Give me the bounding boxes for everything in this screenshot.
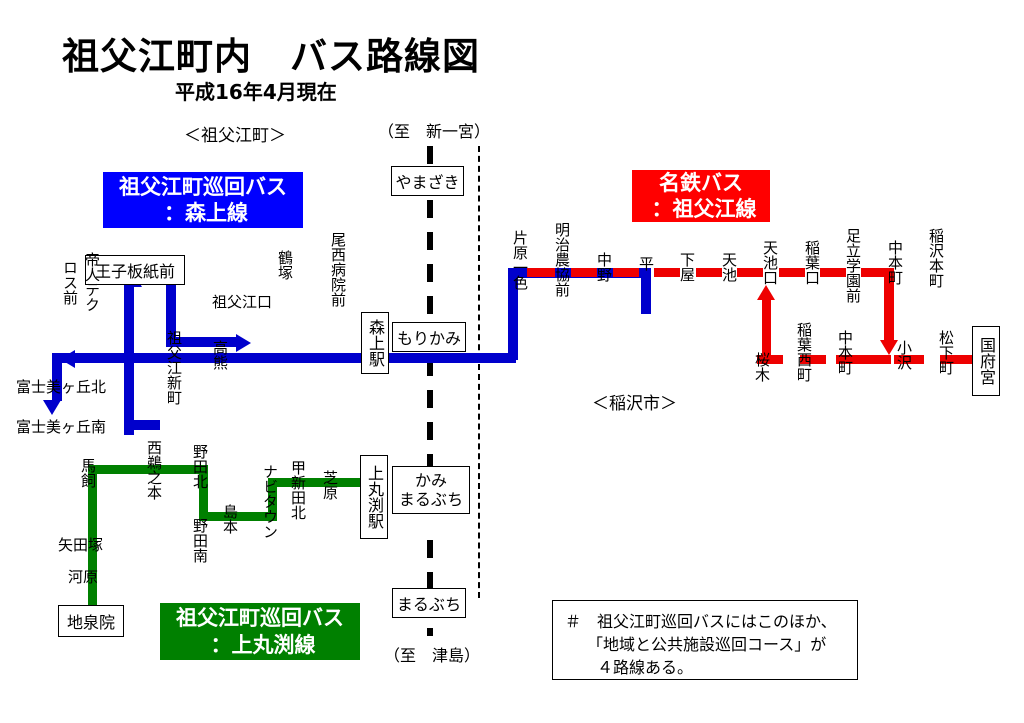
bus-stop-kataharaisshiki: 片原一色: [512, 230, 527, 304]
bus-stop-noda-minami: 野田南: [192, 518, 207, 576]
legend-morikami-line[interactable]: 祖父江町巡回バス ：森上線: [103, 172, 303, 228]
stop-label: 上丸渕駅: [362, 465, 386, 529]
bus-stop-taira: 平: [638, 256, 653, 282]
legend-line1: 祖父江町巡回バス: [119, 174, 287, 200]
bus-stop-bisai-byoin-mae: 尾西病院前: [330, 232, 345, 322]
red-route-segment: [527, 268, 555, 277]
rail-station-marubuchi[interactable]: まるぶち: [392, 588, 466, 618]
page-title: 祖父江町内 バス路線図: [62, 38, 480, 75]
note-line2: 「地域と公共施設巡回コース」が: [565, 633, 847, 656]
bus-stop-amaikeguchi: 天池口: [762, 240, 777, 298]
bus-stop-takakuma: 高熊: [212, 340, 227, 382]
bus-stop-nakahonmachi-lower: 中本町: [837, 330, 852, 388]
rail-station-kamimarubuchi[interactable]: かみ まるぶち: [392, 466, 470, 514]
red-route-segment: [571, 268, 597, 277]
bus-stop-konomiya[interactable]: 国府宮: [972, 326, 1000, 396]
blue-route-segment: [124, 420, 160, 430]
blue-route-segment: [124, 355, 134, 427]
rail-dash: [427, 232, 433, 250]
bus-stop-nakahonmachi-upper: 中本町: [887, 240, 902, 298]
bus-stop-kawara: 河原: [68, 570, 98, 585]
red-route-segment: [696, 268, 722, 277]
bus-stop-matsushitacho: 松下町: [938, 330, 953, 388]
bus-stop-sakuragi: 桜木: [754, 352, 769, 394]
bus-stop-jisenin[interactable]: 地泉院: [58, 605, 124, 637]
green-route-segment: [268, 478, 366, 487]
bus-stop-nishiunomoto: 西鵜之本: [146, 440, 161, 514]
bus-stop-fujimigaoka-minami: 富士美ヶ丘南: [16, 420, 106, 435]
bus-stop-yatazuka: 矢田塚: [58, 538, 103, 553]
legend-line2: ：祖父江線: [646, 196, 757, 222]
bus-stop-konshinden-kita: 甲新田北: [290, 460, 305, 534]
rail-dash: [427, 628, 433, 636]
legend-line2: ：上丸渕線: [205, 632, 316, 658]
blue-route-segment: [60, 353, 316, 363]
red-route-segment: [762, 300, 771, 358]
bus-stop-inazawa-honmachi: 稲沢本町: [928, 228, 943, 302]
blue-route-segment: [316, 353, 516, 363]
railway-direction-south: （至 津島）: [384, 648, 480, 664]
red-route-segment: [820, 268, 846, 277]
bus-stop-adachi-gakuen-mae: 足立学園前: [845, 228, 860, 302]
railway-direction-north: （至 新一宮）: [378, 124, 490, 140]
rail-dash: [427, 264, 433, 282]
area-tag-inazawa: ＜稲沢市＞: [592, 396, 677, 413]
rail-dash: [427, 200, 433, 218]
note-line3: ４路線ある。: [565, 656, 847, 679]
blue-arrow-left: [60, 350, 75, 368]
rail-dash: [427, 422, 433, 440]
bus-stop-teijin-tech: 帝人テク: [84, 252, 99, 322]
red-route-segment: [779, 268, 805, 277]
legend-line1: 祖父江町巡回バス: [176, 605, 344, 631]
note-box: ＃ 祖父江町巡回バスにはこのほか、 「地域と公共施設巡回コース」が ４路線ある。: [552, 600, 858, 680]
legend-sobue-line[interactable]: 名鉄バス ：祖父江線: [632, 170, 770, 222]
stop-label: 森上駅: [363, 319, 387, 367]
bus-stop-navi-town: ナビタウン: [262, 464, 277, 538]
bus-stop-shibahara: 芝原: [322, 470, 337, 512]
area-tag-sobue: ＜祖父江町＞: [184, 128, 286, 145]
blue-arrow-down-to-fujimigaoka: [43, 400, 61, 415]
rail-station-morikami[interactable]: もりかみ: [392, 322, 466, 352]
bus-stop-umakai: 馬飼: [80, 458, 95, 500]
bus-stop-amaike: 天池: [721, 252, 736, 294]
red-route-segment: [654, 268, 680, 277]
blue-arrow-right: [236, 334, 251, 352]
legend-line2: ：森上線: [158, 200, 248, 226]
bus-route-map: 祖父江町内 バス路線図 平成16年4月現在 ＜祖父江町＞ ＜稲沢市＞ （至 新一…: [0, 0, 1024, 723]
bus-stop-shimamoto: 島本: [222, 504, 237, 546]
legend-kamimarubuchi-line[interactable]: 祖父江町巡回バス ：上丸渕線: [160, 603, 360, 660]
rail-dash: [427, 390, 433, 408]
rail-dash: [427, 296, 433, 314]
bus-stop-inabaguchi: 稲葉口: [804, 240, 819, 298]
city-boundary-line: [478, 146, 480, 598]
page-subtitle: 平成16年4月現在: [175, 82, 337, 102]
bus-stop-meiji-nokyo-mae: 明治農協前: [554, 222, 569, 312]
bus-stop-ozawa: 小沢: [896, 340, 911, 382]
note-line1: ＃ 祖父江町巡回バスにはこのほか、: [565, 610, 847, 633]
bus-stop-shimoya: 下屋: [679, 252, 694, 294]
red-route-segment: [613, 268, 639, 277]
legend-line1: 名鉄バス: [659, 170, 743, 196]
bus-stop-nakano: 中野: [596, 252, 611, 294]
red-route-segment: [737, 268, 763, 277]
stop-label: 国府宮: [974, 337, 998, 385]
bus-stop-sobueguchi: 祖父江口: [212, 295, 272, 310]
bus-stop-tsuruzuka: 鶴塚: [277, 250, 292, 292]
rail-dash: [427, 540, 433, 558]
bus-stop-rosumae: ロス前: [62, 260, 77, 318]
bus-stop-inaba-nishimachi: 稲葉西町: [796, 322, 811, 396]
bus-stop-noda-kita: 野田北: [192, 444, 207, 502]
bus-stop-sobue-shinmachi: 祖父江新町: [166, 330, 181, 428]
bus-stop-morikami-eki[interactable]: 森上駅: [361, 312, 389, 374]
rail-dash: [427, 146, 433, 164]
bus-stop-fujimigaoka-kita: 富士美ヶ丘北: [16, 380, 106, 395]
bus-stop-kamimarubuchi-eki[interactable]: 上丸渕駅: [360, 455, 388, 539]
rail-station-yamazaki[interactable]: やまざき: [391, 166, 464, 196]
